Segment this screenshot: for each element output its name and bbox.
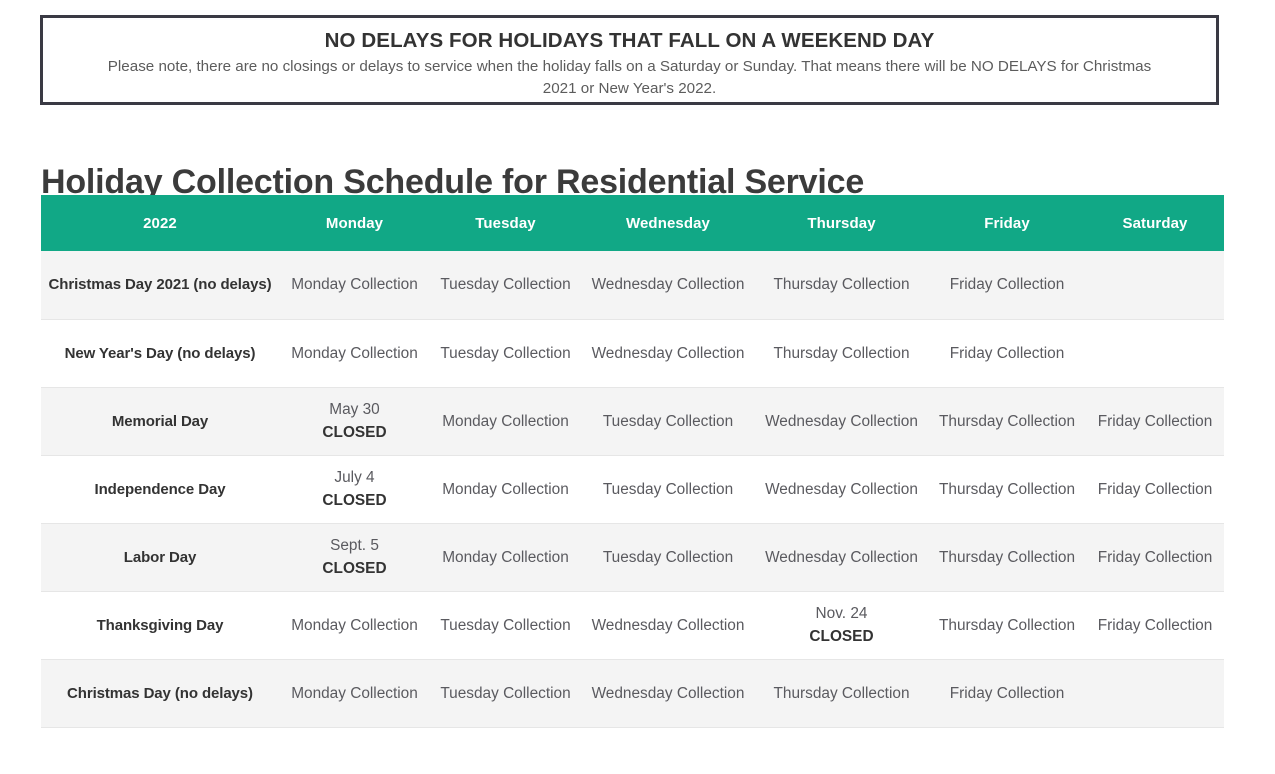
collection-cell: Monday Collection [279,251,430,319]
closed-badge: CLOSED [761,625,922,648]
holiday-name-cell: Christmas Day 2021 (no delays) [41,251,279,319]
collection-cell: Tuesday Collection [581,523,755,591]
collection-cell: Monday Collection [430,455,581,523]
holiday-schedule-table-container: 2022MondayTuesdayWednesdayThursdayFriday… [41,195,1224,728]
collection-cell: Thursday Collection [928,591,1086,659]
table-row: Christmas Day (no delays)Monday Collecti… [41,659,1224,727]
closed-cell: Sept. 5CLOSED [279,523,430,591]
collection-cell: Tuesday Collection [430,659,581,727]
collection-cell: Friday Collection [1086,523,1224,591]
collection-cell: Thursday Collection [928,455,1086,523]
collection-cell: Friday Collection [1086,455,1224,523]
table-header-row: 2022MondayTuesdayWednesdayThursdayFriday… [41,195,1224,251]
collection-cell: Tuesday Collection [581,387,755,455]
holiday-name-cell: Memorial Day [41,387,279,455]
column-header-thursday: Thursday [755,195,928,251]
holiday-name-cell: Christmas Day (no delays) [41,659,279,727]
table-header: 2022MondayTuesdayWednesdayThursdayFriday… [41,195,1224,251]
collection-cell: Thursday Collection [755,251,928,319]
collection-cell: Monday Collection [279,591,430,659]
date-label: July 4 [334,469,374,486]
weekend-holiday-notice-banner: NO DELAYS FOR HOLIDAYS THAT FALL ON A WE… [40,15,1219,105]
collection-cell [1086,251,1224,319]
notice-body-text: Please note, there are no closings or de… [55,56,1204,100]
closed-badge: CLOSED [285,557,424,580]
collection-cell: Thursday Collection [755,319,928,387]
closed-cell: July 4CLOSED [279,455,430,523]
closed-badge: CLOSED [285,489,424,512]
table-row: Independence DayJuly 4CLOSEDMonday Colle… [41,455,1224,523]
collection-cell: Tuesday Collection [430,591,581,659]
column-header-year: 2022 [41,195,279,251]
collection-cell [1086,659,1224,727]
holiday-name-cell: Thanksgiving Day [41,591,279,659]
closed-badge: CLOSED [285,421,424,444]
collection-cell: Tuesday Collection [581,455,755,523]
table-row: Memorial DayMay 30CLOSEDMonday Collectio… [41,387,1224,455]
collection-cell: Wednesday Collection [755,455,928,523]
collection-cell: Wednesday Collection [581,591,755,659]
holiday-name-cell: New Year's Day (no delays) [41,319,279,387]
table-row: New Year's Day (no delays)Monday Collect… [41,319,1224,387]
date-label: Sept. 5 [330,537,379,554]
column-header-wednesday: Wednesday [581,195,755,251]
collection-cell: Tuesday Collection [430,319,581,387]
collection-cell: Thursday Collection [928,523,1086,591]
closed-cell: May 30CLOSED [279,387,430,455]
date-label: May 30 [329,401,379,418]
holiday-schedule-table: 2022MondayTuesdayWednesdayThursdayFriday… [41,195,1224,728]
table-row: Labor DaySept. 5CLOSEDMonday CollectionT… [41,523,1224,591]
column-header-monday: Monday [279,195,430,251]
collection-cell: Monday Collection [279,659,430,727]
collection-cell: Tuesday Collection [430,251,581,319]
column-header-friday: Friday [928,195,1086,251]
collection-cell: Thursday Collection [755,659,928,727]
collection-cell: Monday Collection [430,387,581,455]
collection-cell: Wednesday Collection [581,659,755,727]
notice-heading: NO DELAYS FOR HOLIDAYS THAT FALL ON A WE… [55,28,1204,54]
holiday-name-cell: Labor Day [41,523,279,591]
table-row: Christmas Day 2021 (no delays)Monday Col… [41,251,1224,319]
collection-cell: Thursday Collection [928,387,1086,455]
closed-cell: Nov. 24CLOSED [755,591,928,659]
collection-cell: Wednesday Collection [581,319,755,387]
collection-cell: Friday Collection [1086,591,1224,659]
collection-cell: Monday Collection [279,319,430,387]
collection-cell: Friday Collection [928,659,1086,727]
column-header-saturday: Saturday [1086,195,1224,251]
collection-cell: Friday Collection [928,251,1086,319]
collection-cell: Friday Collection [928,319,1086,387]
collection-cell [1086,319,1224,387]
collection-cell: Monday Collection [430,523,581,591]
table-row: Thanksgiving DayMonday CollectionTuesday… [41,591,1224,659]
holiday-name-cell: Independence Day [41,455,279,523]
column-header-tuesday: Tuesday [430,195,581,251]
collection-cell: Wednesday Collection [755,387,928,455]
collection-cell: Friday Collection [1086,387,1224,455]
collection-cell: Wednesday Collection [581,251,755,319]
table-body: Christmas Day 2021 (no delays)Monday Col… [41,251,1224,727]
date-label: Nov. 24 [816,605,868,622]
collection-cell: Wednesday Collection [755,523,928,591]
